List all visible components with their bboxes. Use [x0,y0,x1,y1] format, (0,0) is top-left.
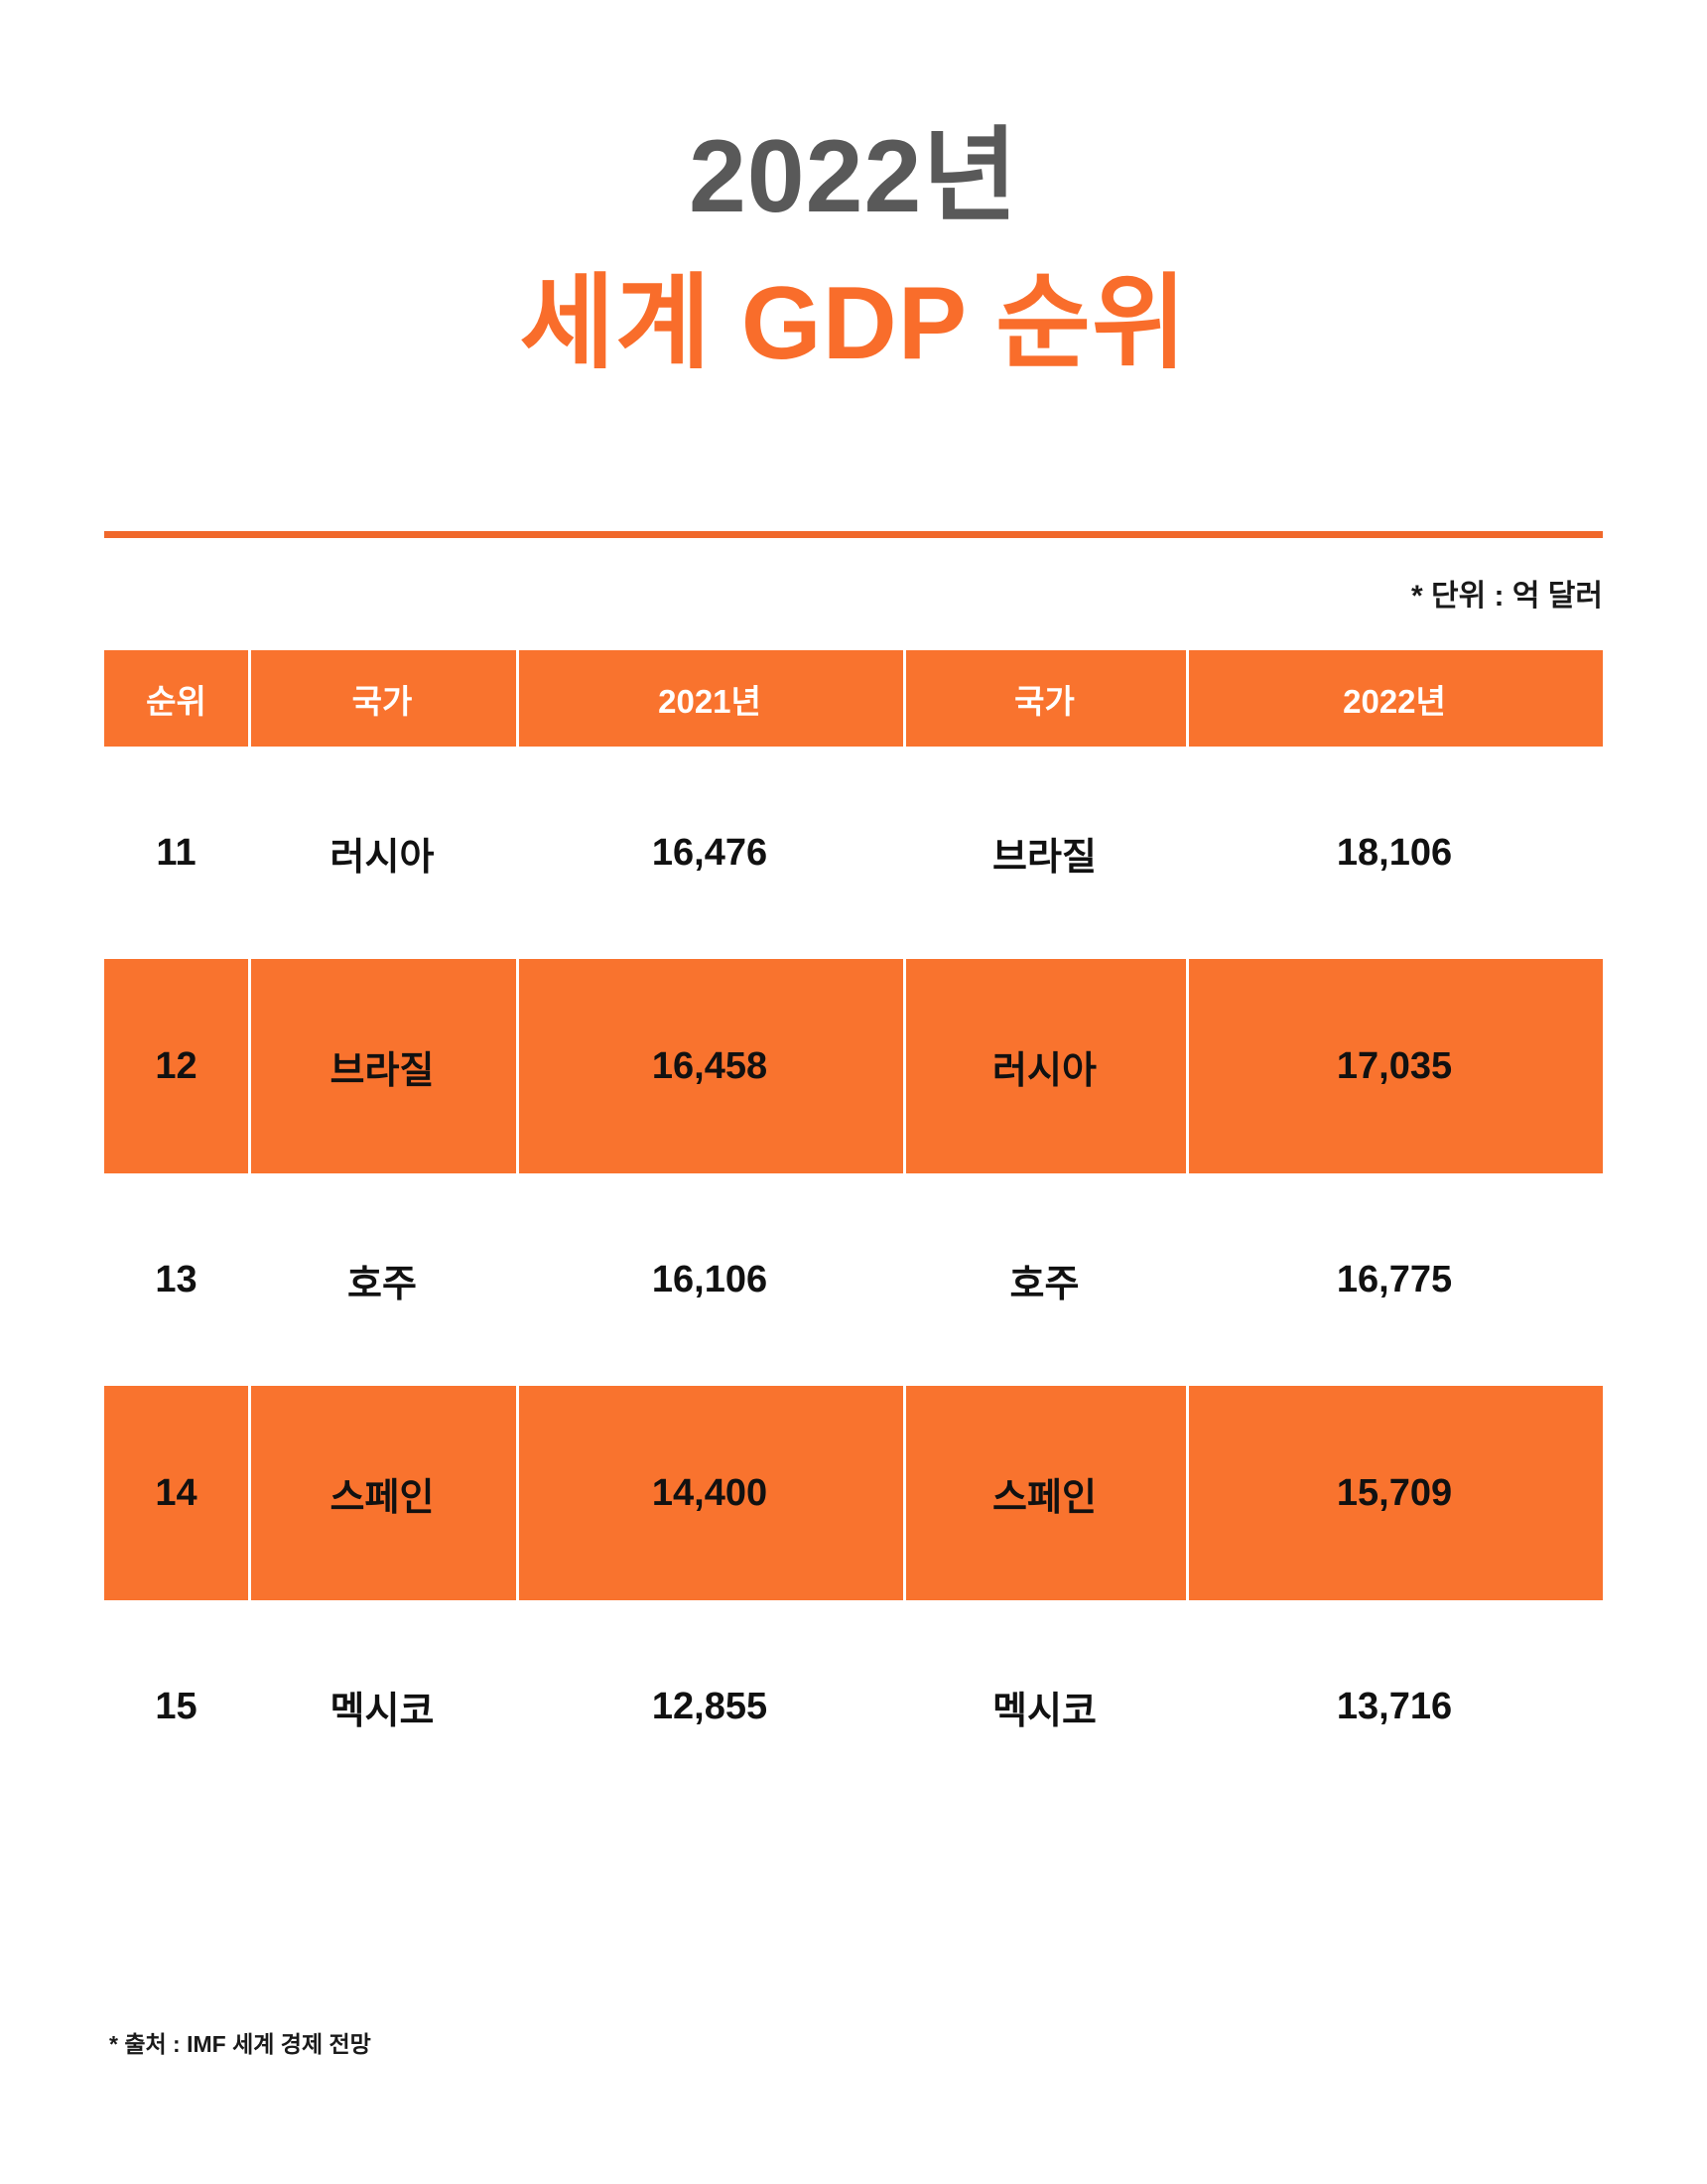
cell-gdp-2021: 14,400 [516,1386,903,1600]
cell-country-2022: 호주 [903,1185,1186,1374]
infographic-page: 2022년 세계 GDP 순위 * 단위 : 억 달러 순위 국가 2021년 … [0,0,1707,2184]
row-spacer [104,1173,1603,1185]
column-header-country-2022: 국가 [903,650,1186,747]
cell-gdp-2021: 16,476 [516,758,903,947]
cell-gdp-2022: 13,716 [1186,1612,1603,1801]
table-row: 14 스페인 14,400 스페인 15,709 [104,1386,1603,1600]
row-spacer [104,947,1603,959]
column-header-country-2021: 국가 [248,650,516,747]
cell-gdp-2022: 18,106 [1186,758,1603,947]
cell-rank: 12 [104,959,248,1173]
orange-divider [104,531,1603,538]
column-header-year-2021: 2021년 [516,650,903,747]
cell-rank: 11 [104,758,248,947]
cell-country-2021: 러시아 [248,758,516,947]
cell-country-2021: 멕시코 [248,1612,516,1801]
page-title-year: 2022년 [0,125,1707,228]
cell-gdp-2021: 12,855 [516,1612,903,1801]
cell-rank: 13 [104,1185,248,1374]
row-spacer [104,1374,1603,1386]
table-row: 13 호주 16,106 호주 16,775 [104,1185,1603,1374]
cell-country-2022: 스페인 [903,1386,1186,1600]
cell-rank: 14 [104,1386,248,1600]
cell-country-2022: 브라질 [903,758,1186,947]
cell-country-2021: 브라질 [248,959,516,1173]
cell-gdp-2022: 15,709 [1186,1386,1603,1600]
cell-gdp-2022: 17,035 [1186,959,1603,1173]
cell-country-2021: 스페인 [248,1386,516,1600]
row-spacer [104,747,1603,758]
cell-country-2022: 러시아 [903,959,1186,1173]
table-header-row: 순위 국가 2021년 국가 2022년 [104,650,1603,747]
cell-country-2022: 멕시코 [903,1612,1186,1801]
row-spacer [104,1600,1603,1612]
column-header-rank: 순위 [104,650,248,747]
cell-gdp-2021: 16,106 [516,1185,903,1374]
cell-rank: 15 [104,1612,248,1801]
cell-gdp-2021: 16,458 [516,959,903,1173]
table-row: 12 브라질 16,458 러시아 17,035 [104,959,1603,1173]
gdp-ranking-table: 순위 국가 2021년 국가 2022년 11 러시아 16,476 브라질 1… [104,650,1603,1801]
cell-country-2021: 호주 [248,1185,516,1374]
table-row: 11 러시아 16,476 브라질 18,106 [104,758,1603,947]
unit-note: * 단위 : 억 달러 [1411,571,1603,614]
title-block: 2022년 세계 GDP 순위 [0,0,1707,375]
page-title-main: 세계 GDP 순위 [0,228,1707,375]
cell-gdp-2022: 16,775 [1186,1185,1603,1374]
column-header-year-2022: 2022년 [1186,650,1603,747]
source-note: * 출처 : IMF 세계 경제 전망 [109,2025,371,2059]
table-row: 15 멕시코 12,855 멕시코 13,716 [104,1612,1603,1801]
